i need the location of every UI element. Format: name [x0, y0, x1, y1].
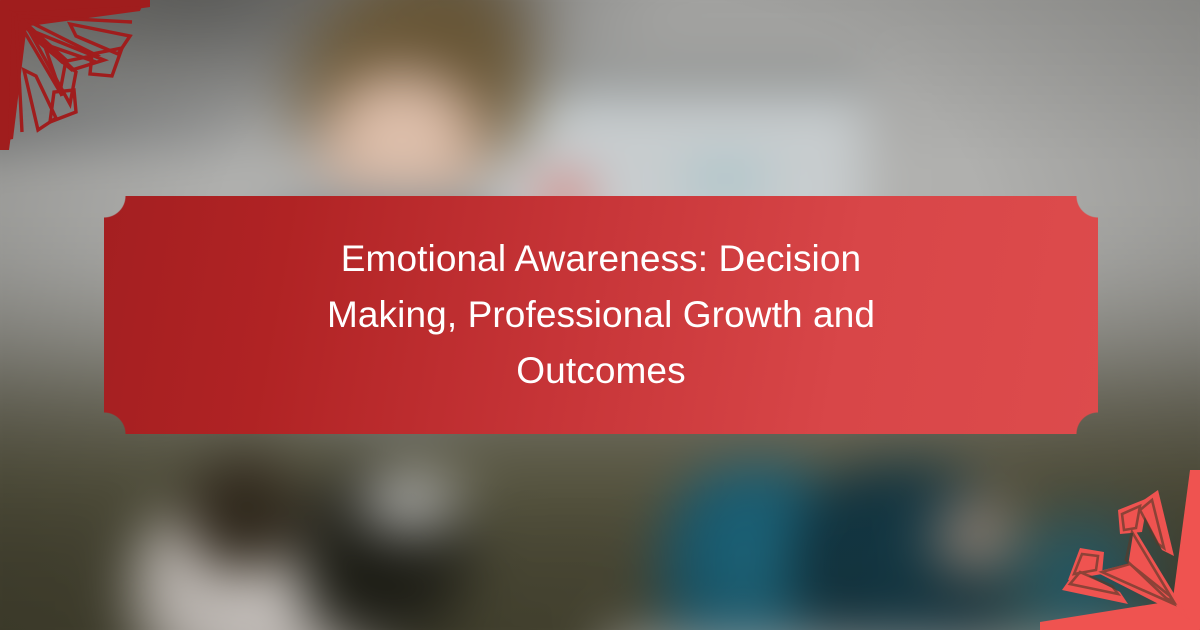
title-banner: Emotional Awareness: Decision Making, Pr…: [104, 196, 1098, 434]
page-title: Emotional Awareness: Decision Making, Pr…: [221, 231, 981, 400]
screenshot-canvas: Emotional Awareness: Decision Making, Pr…: [0, 0, 1200, 630]
